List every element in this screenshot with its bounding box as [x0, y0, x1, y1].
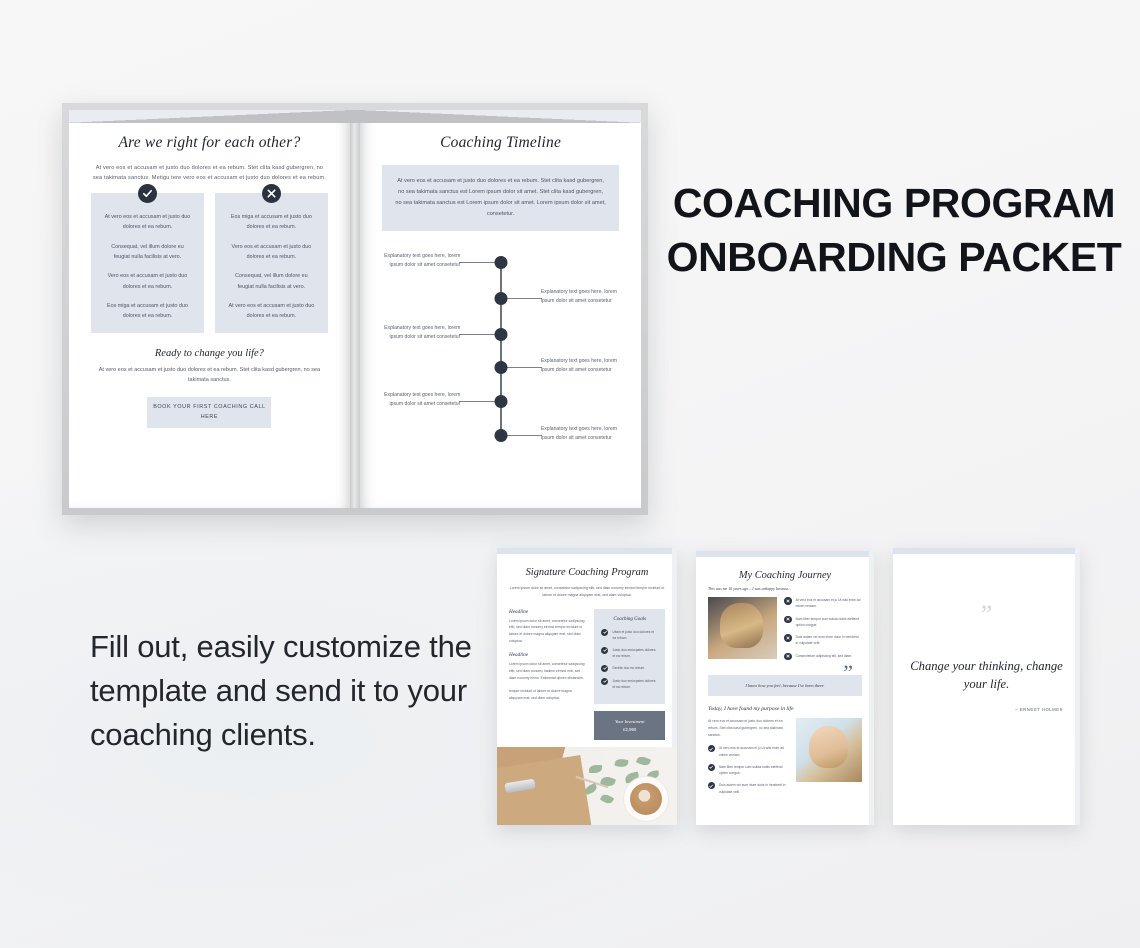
good-point: Vero eos et accusam et justo duo dolores…: [104, 271, 191, 292]
timeline-connector: [459, 334, 495, 335]
x-icon: [784, 634, 792, 642]
card-quote[interactable]: ” Change your thinking, change your life…: [893, 548, 1080, 825]
pain-point-item: Nam liber tempor cum soluta nobis eleife…: [784, 616, 862, 629]
card1-section-head: Headline: [509, 609, 585, 615]
bad-point: Vero eos et accusam et justo duo dolores…: [228, 242, 315, 263]
card2-quote-box: ” I know how you feel, because I've been…: [708, 675, 862, 696]
goal-item: Justo duo emicrpates dolores et ea rebum…: [601, 647, 658, 659]
win-text: At vero eos et accusam et ju Ut wisi eni…: [719, 745, 788, 758]
card-top-band: [893, 548, 1080, 554]
card-side-rail: [1075, 548, 1080, 825]
timeline-connector: [507, 367, 543, 368]
right-page-title: Coaching Timeline: [382, 134, 619, 152]
check-icon: [601, 647, 608, 654]
goal-item: Justo duo emicrpates dolores et ea rebum…: [601, 678, 658, 690]
eucalyptus-leaf: [584, 783, 598, 795]
woman-head-in-hands-photo: [708, 597, 777, 659]
coaching-timeline: Explanatory text goes here, lorem ipsum …: [382, 255, 619, 451]
eucalyptus-leaf: [600, 793, 614, 806]
bad-point: Eos miga et accusam et justo duo dolores…: [228, 212, 315, 233]
investment-amount: £2,990: [599, 727, 660, 732]
left-page-title: Are we right for each other?: [91, 134, 328, 152]
card1-section-body: Lorem ipsum dolor sit amet, consetetur s…: [509, 661, 585, 681]
open-book-mockup: Are we right for each other? At vero eos…: [62, 103, 648, 515]
check-icon: [601, 629, 608, 636]
goal-text: Justo duo emicrpates dolores et ea rebum…: [612, 678, 658, 690]
coaching-goals-box: Coaching Goals Utwin et justo duo dolore…: [594, 609, 665, 705]
check-icon: [601, 678, 608, 685]
bad-point: Consequat, vel illum dolore eu feugiat n…: [228, 271, 315, 292]
card3-quote-text: Change your thinking, change your life.: [893, 658, 1080, 694]
eucalyptus-leaf: [589, 765, 602, 773]
card2-lead: This was me 10 years ago – I was unhappy…: [708, 587, 862, 591]
good-point: At vero eos et accusam et justo duo dolo…: [104, 212, 191, 233]
goal-item: Dereile duo ea rebum.: [601, 665, 658, 672]
card2-quote-text: I know how you feel, because I've been t…: [718, 683, 852, 688]
left-page-outro: At vero eos et accusam et justo duo dolo…: [91, 366, 328, 386]
card2-title: My Coaching Journey: [708, 570, 862, 581]
card1-section-head: Headline: [509, 652, 585, 658]
goal-item: Utwin et justo duo dolores et ea rebum.: [601, 629, 658, 641]
eucalyptus-leaf: [614, 758, 628, 768]
bad-point: At vero eos et accusam et justo duo dolo…: [228, 301, 315, 322]
investment-label: Your Investment: [599, 719, 660, 724]
goal-text: Dereile duo ea rebum.: [612, 665, 645, 671]
comparison-columns: At vero eos et accusam et justo duo dolo…: [91, 193, 328, 333]
check-circle-icon: [138, 184, 157, 203]
face-shape: [809, 726, 847, 768]
pain-point-text: At vero eos et accusam et ju Ut wisi eni…: [796, 597, 862, 610]
timeline-connector: [507, 435, 543, 436]
card1-intro: Lorem ipsum dolor sit amet, consetetur s…: [509, 585, 665, 599]
book-spine: [350, 110, 360, 508]
x-icon: [784, 597, 792, 605]
book-page-right: Coaching Timeline At vero eos et accusam…: [360, 110, 641, 508]
timeline-dot-icon: [494, 292, 507, 305]
check-icon: [708, 745, 715, 752]
timeline-connector: [507, 298, 543, 299]
card-my-coaching-journey[interactable]: My Coaching Journey This was me 10 years…: [696, 551, 874, 825]
eucalyptus-leaf: [636, 755, 651, 767]
x-icon: [784, 616, 792, 624]
pain-point-text: Consectetuer adipiscing elit, sed diam.: [796, 653, 852, 659]
pain-point-text: Duis autem vel eum iriure dolor in hendr…: [796, 634, 862, 647]
clipboard-eucalyptus-coffee-photo: [497, 747, 677, 825]
card-signature-coaching-program[interactable]: Signature Coaching Program Lorem ipsum d…: [497, 548, 677, 825]
investment-box: Your Investment £2,990: [594, 711, 665, 740]
pain-point-item: At vero eos et accusam et ju Ut wisi eni…: [784, 597, 862, 610]
card1-section-body: Lorem ipsum dolor sit amet, consetetur s…: [509, 618, 585, 645]
hair-shape: [720, 603, 763, 648]
quote-mark-icon: ”: [843, 662, 853, 684]
good-point: Eos miga et accusam et justo duo dolores…: [104, 301, 191, 322]
comparison-column-good: At vero eos et accusam et justo duo dolo…: [91, 193, 204, 333]
timeline-label: Explanatory text goes here, lorem ipsum …: [382, 324, 460, 343]
timeline-connector: [459, 262, 495, 263]
tagline-text: Fill out, easily customize the template …: [90, 625, 490, 757]
timeline-dot-icon: [494, 361, 507, 374]
pain-point-item: Duis autem vel eum iriure dolor in hendr…: [784, 634, 862, 647]
timeline-label: Explanatory text goes here, lorem ipsum …: [541, 357, 619, 376]
timeline-dot-icon: [494, 256, 507, 269]
card1-title: Signature Coaching Program: [509, 567, 665, 578]
timeline-intro-box: At vero eos et accusam et justo duo dolo…: [382, 165, 619, 231]
win-text: Nam liber tempor cum soluta nobis eleife…: [719, 764, 788, 777]
timeline-dot-icon: [494, 395, 507, 408]
x-icon: [784, 653, 792, 661]
timeline-label: Explanatory text goes here, lorem ipsum …: [541, 288, 619, 307]
x-circle-icon: [262, 184, 281, 203]
book-call-button[interactable]: BOOK YOUR FIRST COACHING CALL HERE: [147, 397, 271, 428]
timeline-dot-icon: [494, 429, 507, 442]
goal-text: Utwin et justo duo dolores et ea rebum.: [612, 629, 658, 641]
win-text: Duis autem vel eum iriure dolor in hendr…: [719, 782, 788, 795]
check-icon: [601, 665, 608, 672]
check-icon: [708, 764, 715, 771]
comparison-column-bad: Eos miga et accusam et justo duo dolores…: [215, 193, 328, 333]
book-page-left: Are we right for each other? At vero eos…: [69, 110, 350, 508]
win-item: At vero eos et accusam et ju Ut wisi eni…: [708, 745, 788, 758]
check-icon: [708, 782, 715, 789]
timeline-connector: [459, 401, 495, 402]
smiling-woman-photo: [796, 718, 862, 782]
coffee-cup-shape: [624, 777, 668, 821]
good-point: Consequat, vel illum dolore eu feugiat n…: [104, 242, 191, 263]
timeline-intro-text: At vero eos et accusam et justo duo dolo…: [395, 176, 606, 220]
card2-section2-head: Today, I have found my purpose in life: [708, 706, 862, 712]
card2-section2-body: At vero eos et accusam et justo duo dolo…: [708, 718, 788, 738]
card3-quote-author: – ERNEST HOLMES: [893, 707, 1080, 712]
coaching-goals-title: Coaching Goals: [601, 617, 658, 622]
pain-point-text: Nam liber tempor cum soluta nobis eleife…: [796, 616, 862, 629]
goal-text: Justo duo emicrpates dolores et ea rebum…: [612, 647, 658, 659]
timeline-label: Explanatory text goes here, lorem ipsum …: [382, 252, 460, 271]
timeline-dot-icon: [494, 328, 507, 341]
win-item: Nam liber tempor cum soluta nobis eleife…: [708, 764, 788, 777]
quote-mark-icon: ”: [893, 606, 1080, 624]
left-page-subtitle: Ready to change you life?: [91, 348, 328, 359]
timeline-label: Explanatory text goes here, lorem ipsum …: [382, 391, 460, 410]
page-title: COACHING PROGRAM ONBOARDING PACKET: [666, 176, 1122, 284]
card1-section-body: tempor invidunt ut labore et dolore magn…: [509, 688, 585, 702]
win-item: Duis autem vel eum iriure dolor in hendr…: [708, 782, 788, 795]
timeline-label: Explanatory text goes here, lorem ipsum …: [541, 425, 619, 444]
left-page-intro: At vero eos et accusam et justo duo dolo…: [91, 163, 328, 184]
pain-point-item: Consectetuer adipiscing elit, sed diam.: [784, 653, 862, 661]
